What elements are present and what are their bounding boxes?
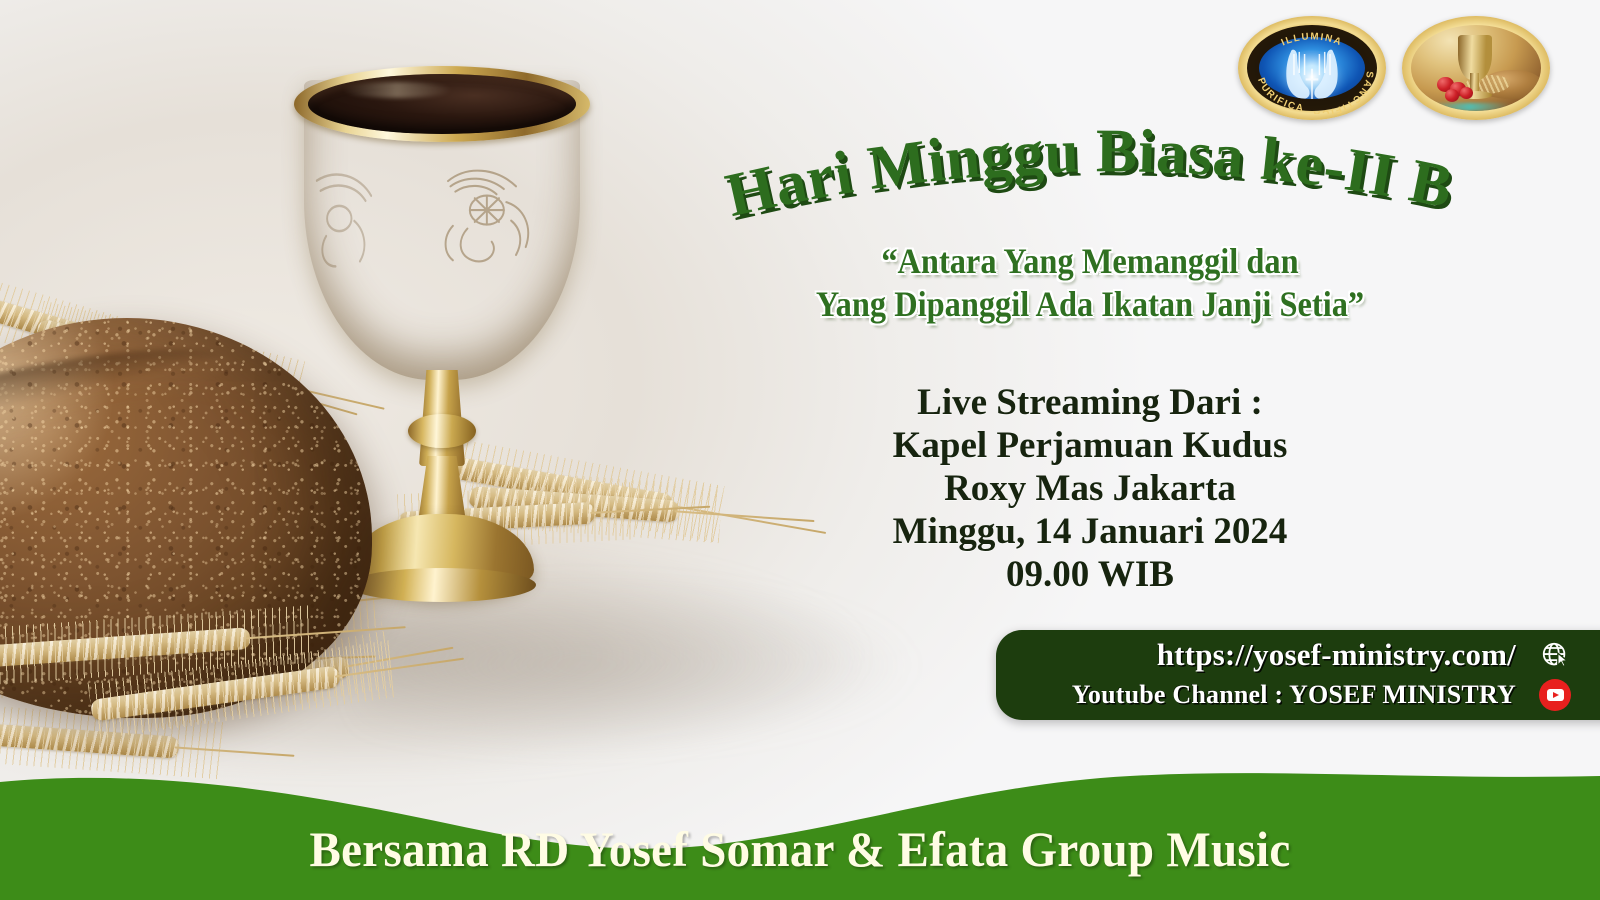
website-row[interactable]: https://yosef-ministry.com/ — [1036, 635, 1600, 675]
info-line-date: Minggu, 14 Januari 2024 — [740, 511, 1440, 554]
glowing-hands-icon — [1259, 37, 1365, 99]
info-line-venue: Kapel Perjamuan Kudus — [740, 425, 1440, 468]
contact-badge: https://yosef-ministry.com/ Youtube Chan… — [996, 630, 1600, 720]
info-line-streaming: Live Streaming Dari : — [740, 382, 1440, 425]
info-line-time: 09.00 WIB — [740, 554, 1440, 597]
illumina-seal-logo: ILLUMINA PURIFICA SANCTIFICA — [1238, 16, 1386, 120]
contact-badge-lines: https://yosef-ministry.com/ Youtube Chan… — [1036, 635, 1600, 715]
eucharist-logo-inner — [1411, 25, 1541, 111]
website-url[interactable]: https://yosef-ministry.com/ — [1157, 637, 1516, 673]
subtitle-line-1: “Antara Yang Memanggil dan — [703, 240, 1477, 283]
seal-inner-emblem — [1259, 37, 1365, 99]
poster-canvas: ILLUMINA PURIFICA SANCTIFICA Har — [0, 0, 1600, 900]
eucharist-logo — [1402, 16, 1550, 120]
wheat-stalks-foreground — [0, 0, 700, 780]
subtitle-line-2: Yang Dipanggil Ada Ikatan Janji Setia” — [703, 283, 1477, 326]
youtube-row[interactable]: Youtube Channel : YOSEF MINISTRY — [1036, 675, 1600, 715]
page-subtitle: “Antara Yang Memanggil dan Yang Dipanggi… — [703, 240, 1477, 326]
youtube-channel[interactable]: Youtube Channel : YOSEF MINISTRY — [1072, 680, 1516, 710]
bottom-banner-text: Bersama RD Yosef Somar & Efata Group Mus… — [48, 820, 1552, 878]
event-info-block: Live Streaming Dari : Kapel Perjamuan Ku… — [740, 382, 1440, 597]
globe-cursor-icon[interactable] — [1534, 640, 1576, 670]
eucharist-grape — [1445, 89, 1459, 102]
eucharist-teal-accent — [1429, 103, 1510, 111]
info-line-city: Roxy Mas Jakarta — [740, 468, 1440, 511]
seal-ring: ILLUMINA PURIFICA SANCTIFICA — [1247, 25, 1377, 111]
youtube-play-icon[interactable] — [1534, 679, 1576, 711]
page-title: Hari Minggu Biasa ke-II B Hari Minggu Bi… — [640, 118, 1540, 258]
